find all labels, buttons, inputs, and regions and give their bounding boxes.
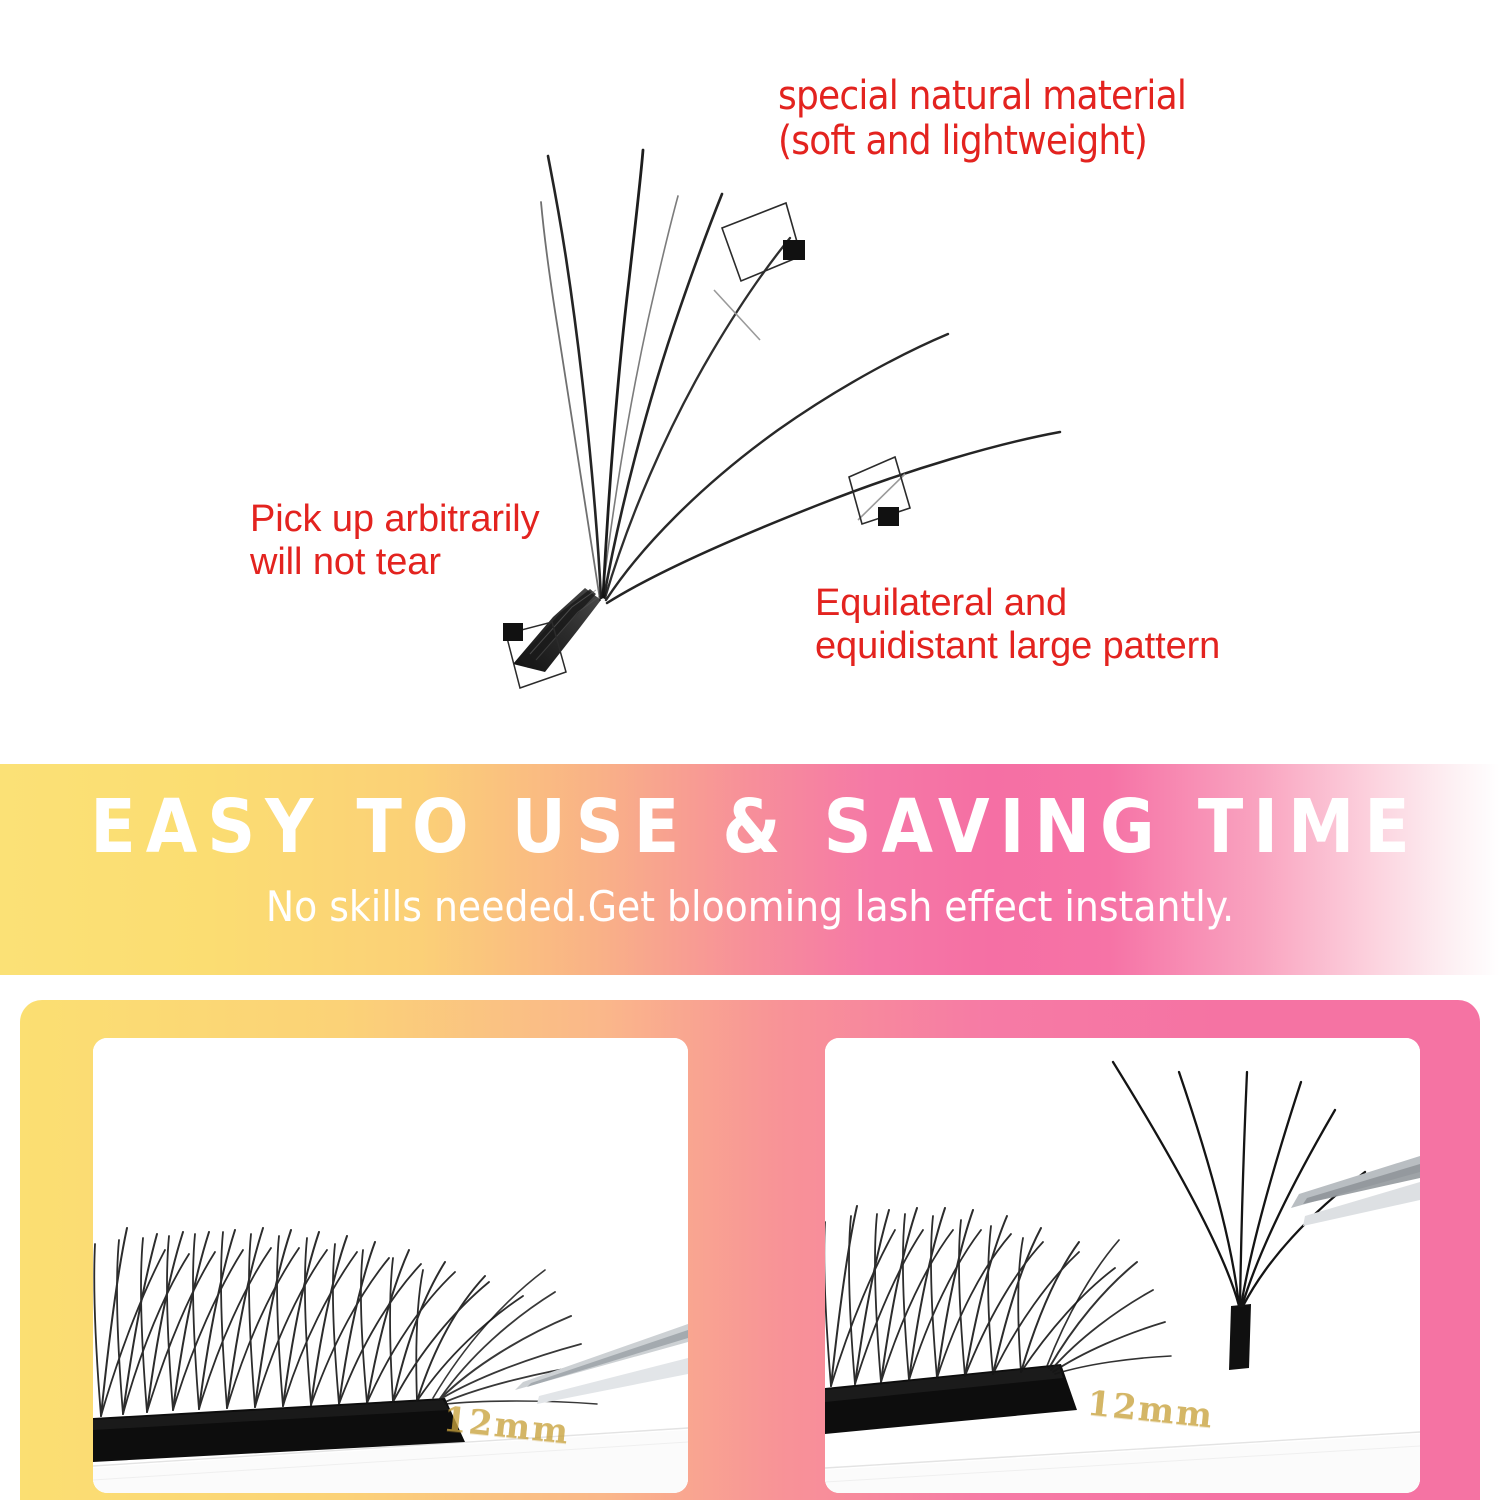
callout-pick-up-arbitrarily: Pick up arbitrarily will not tear xyxy=(250,498,540,583)
lash-fan-illustration xyxy=(0,0,1500,764)
product-photo-right: 12mm xyxy=(825,1038,1420,1493)
promo-banner: EASY TO USE & SAVING TIME No skills need… xyxy=(0,764,1500,975)
callout-equilateral-equidistant: Equilateral and equidistant large patter… xyxy=(815,582,1220,667)
callout-special-natural-material: special natural material (soft and light… xyxy=(778,74,1186,164)
banner-subtitle: No skills needed.Get blooming lash effec… xyxy=(0,886,1500,928)
lash-tray-tweezers-image xyxy=(93,1038,688,1493)
marker-top xyxy=(714,203,805,340)
banner-headline: EASY TO USE & SAVING TIME xyxy=(0,790,1500,864)
lash-base xyxy=(513,588,601,672)
marker-mid xyxy=(849,457,910,526)
lash-strands xyxy=(541,150,1060,603)
product-photo-panel: 12mm xyxy=(20,1000,1480,1500)
product-photo-left: 12mm xyxy=(93,1038,688,1493)
lash-diagram-section: special natural material (soft and light… xyxy=(0,0,1500,764)
